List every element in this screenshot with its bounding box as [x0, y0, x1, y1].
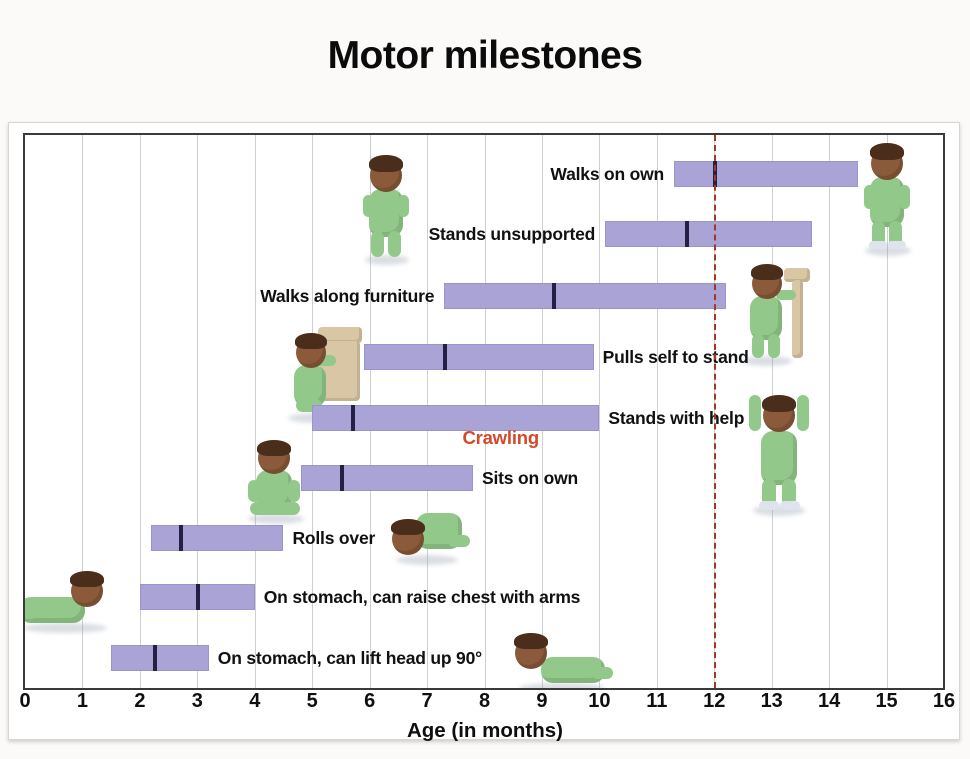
chair-back — [318, 327, 362, 343]
table-row: On stomach, can raise chest with arms — [25, 584, 943, 610]
x-tick-7: 7 — [422, 690, 433, 713]
milestone-label: Stands unsupported — [429, 221, 596, 247]
x-tick-10: 10 — [588, 690, 610, 713]
table-row: On stomach, can lift head up 90° — [25, 645, 943, 671]
x-tick-3: 3 — [192, 690, 203, 713]
median-age-marker — [179, 525, 183, 551]
x-tick-4: 4 — [249, 690, 260, 713]
page-title: Motor milestones — [0, 34, 970, 78]
milestone-label: Rolls over — [292, 525, 375, 551]
x-tick-8: 8 — [479, 690, 490, 713]
twelve-month-reference-line — [714, 135, 716, 688]
x-tick-11: 11 — [646, 690, 667, 713]
torso — [294, 365, 326, 407]
median-age-marker — [196, 584, 200, 610]
shadow — [753, 505, 805, 516]
legs-crossed — [250, 502, 300, 515]
table-row: Sits on own — [25, 465, 943, 491]
milestone-label: On stomach, can raise chest with arms — [264, 584, 580, 610]
x-tick-1: 1 — [77, 690, 88, 713]
x-tick-16: 16 — [933, 690, 955, 713]
x-tick-14: 14 — [818, 690, 840, 713]
median-age-marker — [153, 645, 157, 671]
plot-frame: Walks on ownStands unsupportedWalks alon… — [23, 133, 945, 690]
milestone-label: Walks on own — [550, 161, 664, 187]
chart-card: Walks on ownStands unsupportedWalks alon… — [8, 122, 960, 740]
x-axis-ticks: 012345678910111213141516 — [23, 690, 945, 720]
median-age-marker — [351, 405, 355, 431]
milestone-bar[interactable] — [444, 283, 725, 309]
milestone-bar[interactable] — [364, 344, 594, 370]
milestone-bar[interactable] — [312, 405, 599, 431]
table-row: Walks along furniture — [25, 283, 943, 309]
table-row: Pulls self to stand — [25, 344, 943, 370]
table-row: Rolls over — [25, 525, 943, 551]
foot-left — [759, 501, 779, 510]
motor-milestones-chart-page: Motor milestones Walks on ownStands unsu… — [0, 0, 970, 759]
x-tick-9: 9 — [536, 690, 547, 713]
shadow — [248, 514, 304, 524]
x-tick-2: 2 — [134, 690, 145, 713]
crawling-annotation: Crawling — [462, 427, 539, 449]
x-tick-13: 13 — [761, 690, 783, 713]
milestone-label: Stands with help — [608, 405, 744, 431]
foot-right — [780, 501, 800, 510]
shadow — [25, 623, 107, 633]
median-age-marker — [340, 465, 344, 491]
table-row: Stands unsupported — [25, 221, 943, 247]
milestone-bar[interactable] — [140, 584, 255, 610]
milestone-bar[interactable] — [151, 525, 283, 551]
arm-right — [398, 195, 409, 217]
x-tick-12: 12 — [703, 690, 725, 713]
milestone-bar[interactable] — [111, 645, 209, 671]
x-tick-6: 6 — [364, 690, 375, 713]
hair — [257, 440, 291, 456]
hair — [751, 264, 783, 280]
milestone-bar[interactable] — [674, 161, 858, 187]
x-tick-0: 0 — [19, 690, 30, 713]
shadow — [365, 255, 409, 265]
plot-area: Walks on ownStands unsupportedWalks alon… — [25, 135, 943, 688]
arm-right — [899, 185, 910, 209]
furniture-top — [784, 268, 810, 282]
median-age-marker — [552, 283, 556, 309]
shadow — [519, 683, 605, 688]
median-age-marker — [443, 344, 447, 370]
milestone-bar[interactable] — [301, 465, 473, 491]
milestone-label: Walks along furniture — [260, 283, 434, 309]
milestone-bar[interactable] — [605, 221, 812, 247]
milestone-label: Pulls self to stand — [603, 344, 749, 370]
arm-left — [864, 185, 875, 209]
arm-left — [363, 195, 374, 217]
x-tick-15: 15 — [875, 690, 897, 713]
x-axis-label: Age (in months) — [9, 719, 961, 743]
milestone-label: Sits on own — [482, 465, 578, 491]
median-age-marker — [685, 221, 689, 247]
milestone-label: On stomach, can lift head up 90° — [218, 645, 482, 671]
table-row: Walks on own — [25, 161, 943, 187]
x-tick-5: 5 — [307, 690, 318, 713]
